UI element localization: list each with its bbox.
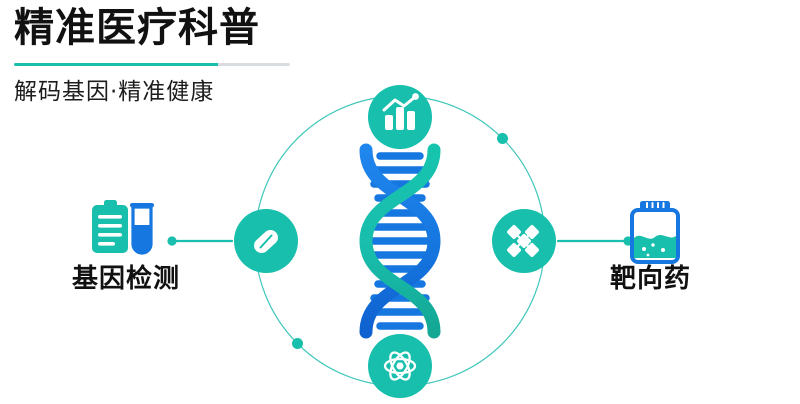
pill-bottle-icon bbox=[632, 201, 678, 262]
clipboard-icon bbox=[92, 200, 128, 253]
node-bottom-atom[interactable] bbox=[368, 334, 432, 398]
poster-canvas: 精准医疗科普 解码基因·精准健康 bbox=[0, 0, 800, 404]
dna-helix-graphic bbox=[366, 150, 434, 332]
test-tube-icon bbox=[130, 203, 154, 253]
connector-left bbox=[167, 236, 232, 245]
node-left-capsule[interactable] bbox=[234, 209, 298, 273]
precision-medicine-diagram bbox=[0, 0, 800, 404]
node-top-analytics[interactable] bbox=[368, 85, 432, 149]
gene-test-label: 基因检测 bbox=[72, 258, 180, 295]
ring-dot-lower-left bbox=[292, 338, 303, 349]
connector-right bbox=[558, 236, 633, 245]
ring-dot-upper-right bbox=[497, 133, 508, 144]
gene-test-icon-group bbox=[92, 200, 154, 253]
targeted-drug-label: 靶向药 bbox=[610, 258, 691, 295]
node-right-molecule[interactable] bbox=[492, 209, 556, 273]
connector-left-dot bbox=[167, 236, 176, 245]
